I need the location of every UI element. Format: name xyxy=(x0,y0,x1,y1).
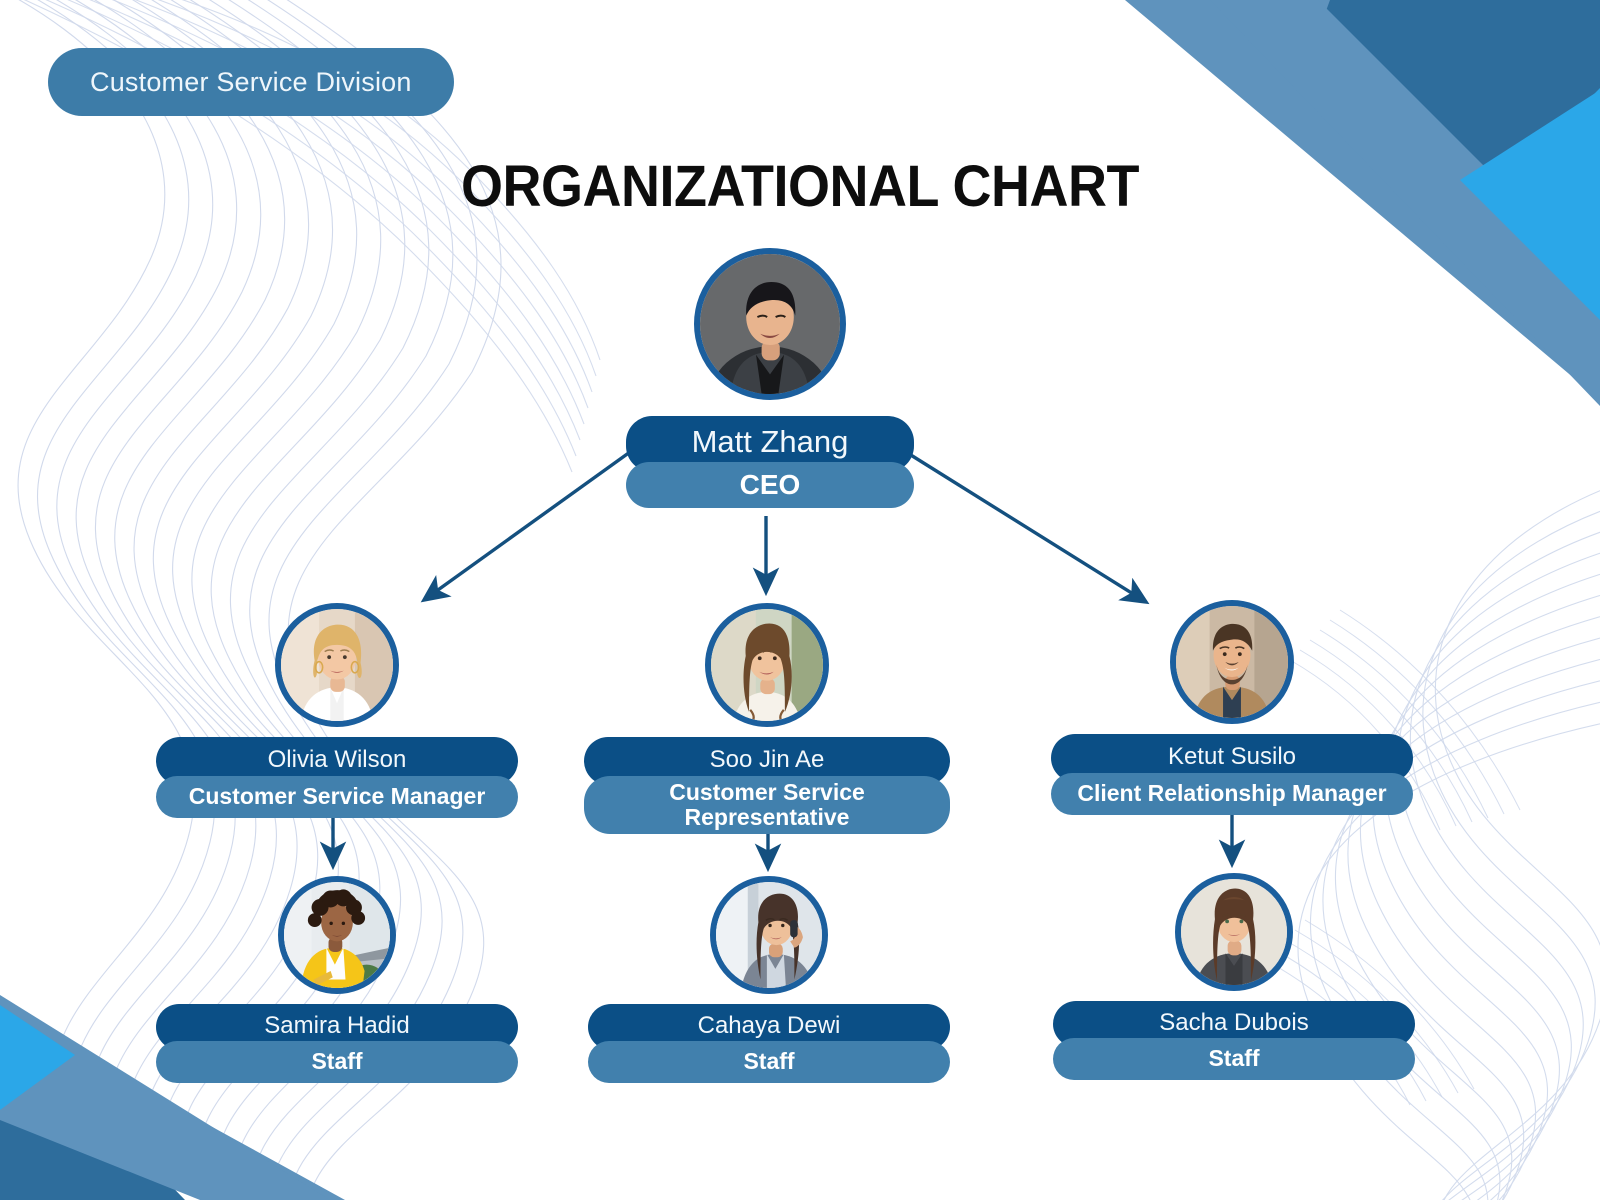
role-bar-sacha-dubois: Staff xyxy=(1053,1038,1415,1080)
avatar-soo-jin-ae xyxy=(705,603,829,727)
node-role-olivia-wilson: Customer Service Manager xyxy=(189,784,486,809)
node-name-samira-hadid: Samira Hadid xyxy=(264,1012,409,1040)
role-bar-ketut-susilo: Client Relationship Manager xyxy=(1051,773,1413,815)
node-name-cahaya-dewi: Cahaya Dewi xyxy=(698,1012,841,1040)
avatar-sacha-dubois xyxy=(1175,873,1293,991)
node-role-ceo: CEO xyxy=(740,470,801,501)
org-node-cahaya-dewi[interactable]: Cahaya Dewi Staff xyxy=(588,876,950,1083)
edge-ceo-ketut xyxy=(906,452,1146,602)
role-bar-olivia-wilson: Customer Service Manager xyxy=(156,776,518,818)
role-bar-cahaya-dewi: Staff xyxy=(588,1041,950,1083)
avatar-samira-hadid xyxy=(278,876,396,994)
node-role-ketut-susilo: Client Relationship Manager xyxy=(1077,781,1386,806)
avatar-cahaya-dewi xyxy=(710,876,828,994)
node-role-cahaya-dewi: Staff xyxy=(743,1049,794,1074)
plate-ceo: Matt Zhang CEO xyxy=(626,416,914,508)
org-node-olivia-wilson[interactable]: Olivia Wilson Customer Service Manager xyxy=(153,603,521,818)
node-name-olivia-wilson: Olivia Wilson xyxy=(268,746,407,774)
page-title: ORGANIZATIONAL CHART xyxy=(56,153,1544,220)
plate-olivia-wilson: Olivia Wilson Customer Service Manager xyxy=(156,737,518,818)
node-name-soo-jin-ae: Soo Jin Ae xyxy=(710,746,825,774)
plate-cahaya-dewi: Cahaya Dewi Staff xyxy=(588,1004,950,1083)
plate-sacha-dubois: Sacha Dubois Staff xyxy=(1053,1001,1415,1080)
org-node-ketut-susilo[interactable]: Ketut Susilo Client Relationship Manager xyxy=(1048,600,1416,815)
node-name-ketut-susilo: Ketut Susilo xyxy=(1168,743,1296,771)
org-node-ceo[interactable]: Matt Zhang CEO xyxy=(622,248,918,508)
org-node-samira-hadid[interactable]: Samira Hadid Staff xyxy=(153,876,521,1083)
division-badge: Customer Service Division xyxy=(48,48,454,116)
org-node-soo-jin-ae[interactable]: Soo Jin Ae Customer Service Representati… xyxy=(583,603,951,834)
node-name-ceo: Matt Zhang xyxy=(692,424,849,460)
avatar-ketut-susilo xyxy=(1170,600,1294,724)
plate-soo-jin-ae: Soo Jin Ae Customer Service Representati… xyxy=(584,737,950,834)
node-role-sacha-dubois: Staff xyxy=(1208,1046,1259,1071)
edge-ceo-olivia xyxy=(424,452,630,600)
avatar-matt-zhang xyxy=(694,248,846,400)
role-bar-soo-jin-ae: Customer Service Representative xyxy=(584,776,950,834)
org-chart-canvas: Customer Service Division ORGANIZATIONAL… xyxy=(0,0,1600,1200)
plate-ketut-susilo: Ketut Susilo Client Relationship Manager xyxy=(1051,734,1413,815)
avatar-olivia-wilson xyxy=(275,603,399,727)
plate-samira-hadid: Samira Hadid Staff xyxy=(156,1004,518,1083)
node-role-samira-hadid: Staff xyxy=(311,1049,362,1074)
node-name-sacha-dubois: Sacha Dubois xyxy=(1159,1009,1308,1037)
node-role-soo-jin-ae: Customer Service Representative xyxy=(594,780,940,831)
org-node-sacha-dubois[interactable]: Sacha Dubois Staff xyxy=(1050,873,1418,1080)
role-bar-samira-hadid: Staff xyxy=(156,1041,518,1083)
division-badge-label: Customer Service Division xyxy=(90,67,412,98)
role-bar-ceo: CEO xyxy=(626,462,914,508)
